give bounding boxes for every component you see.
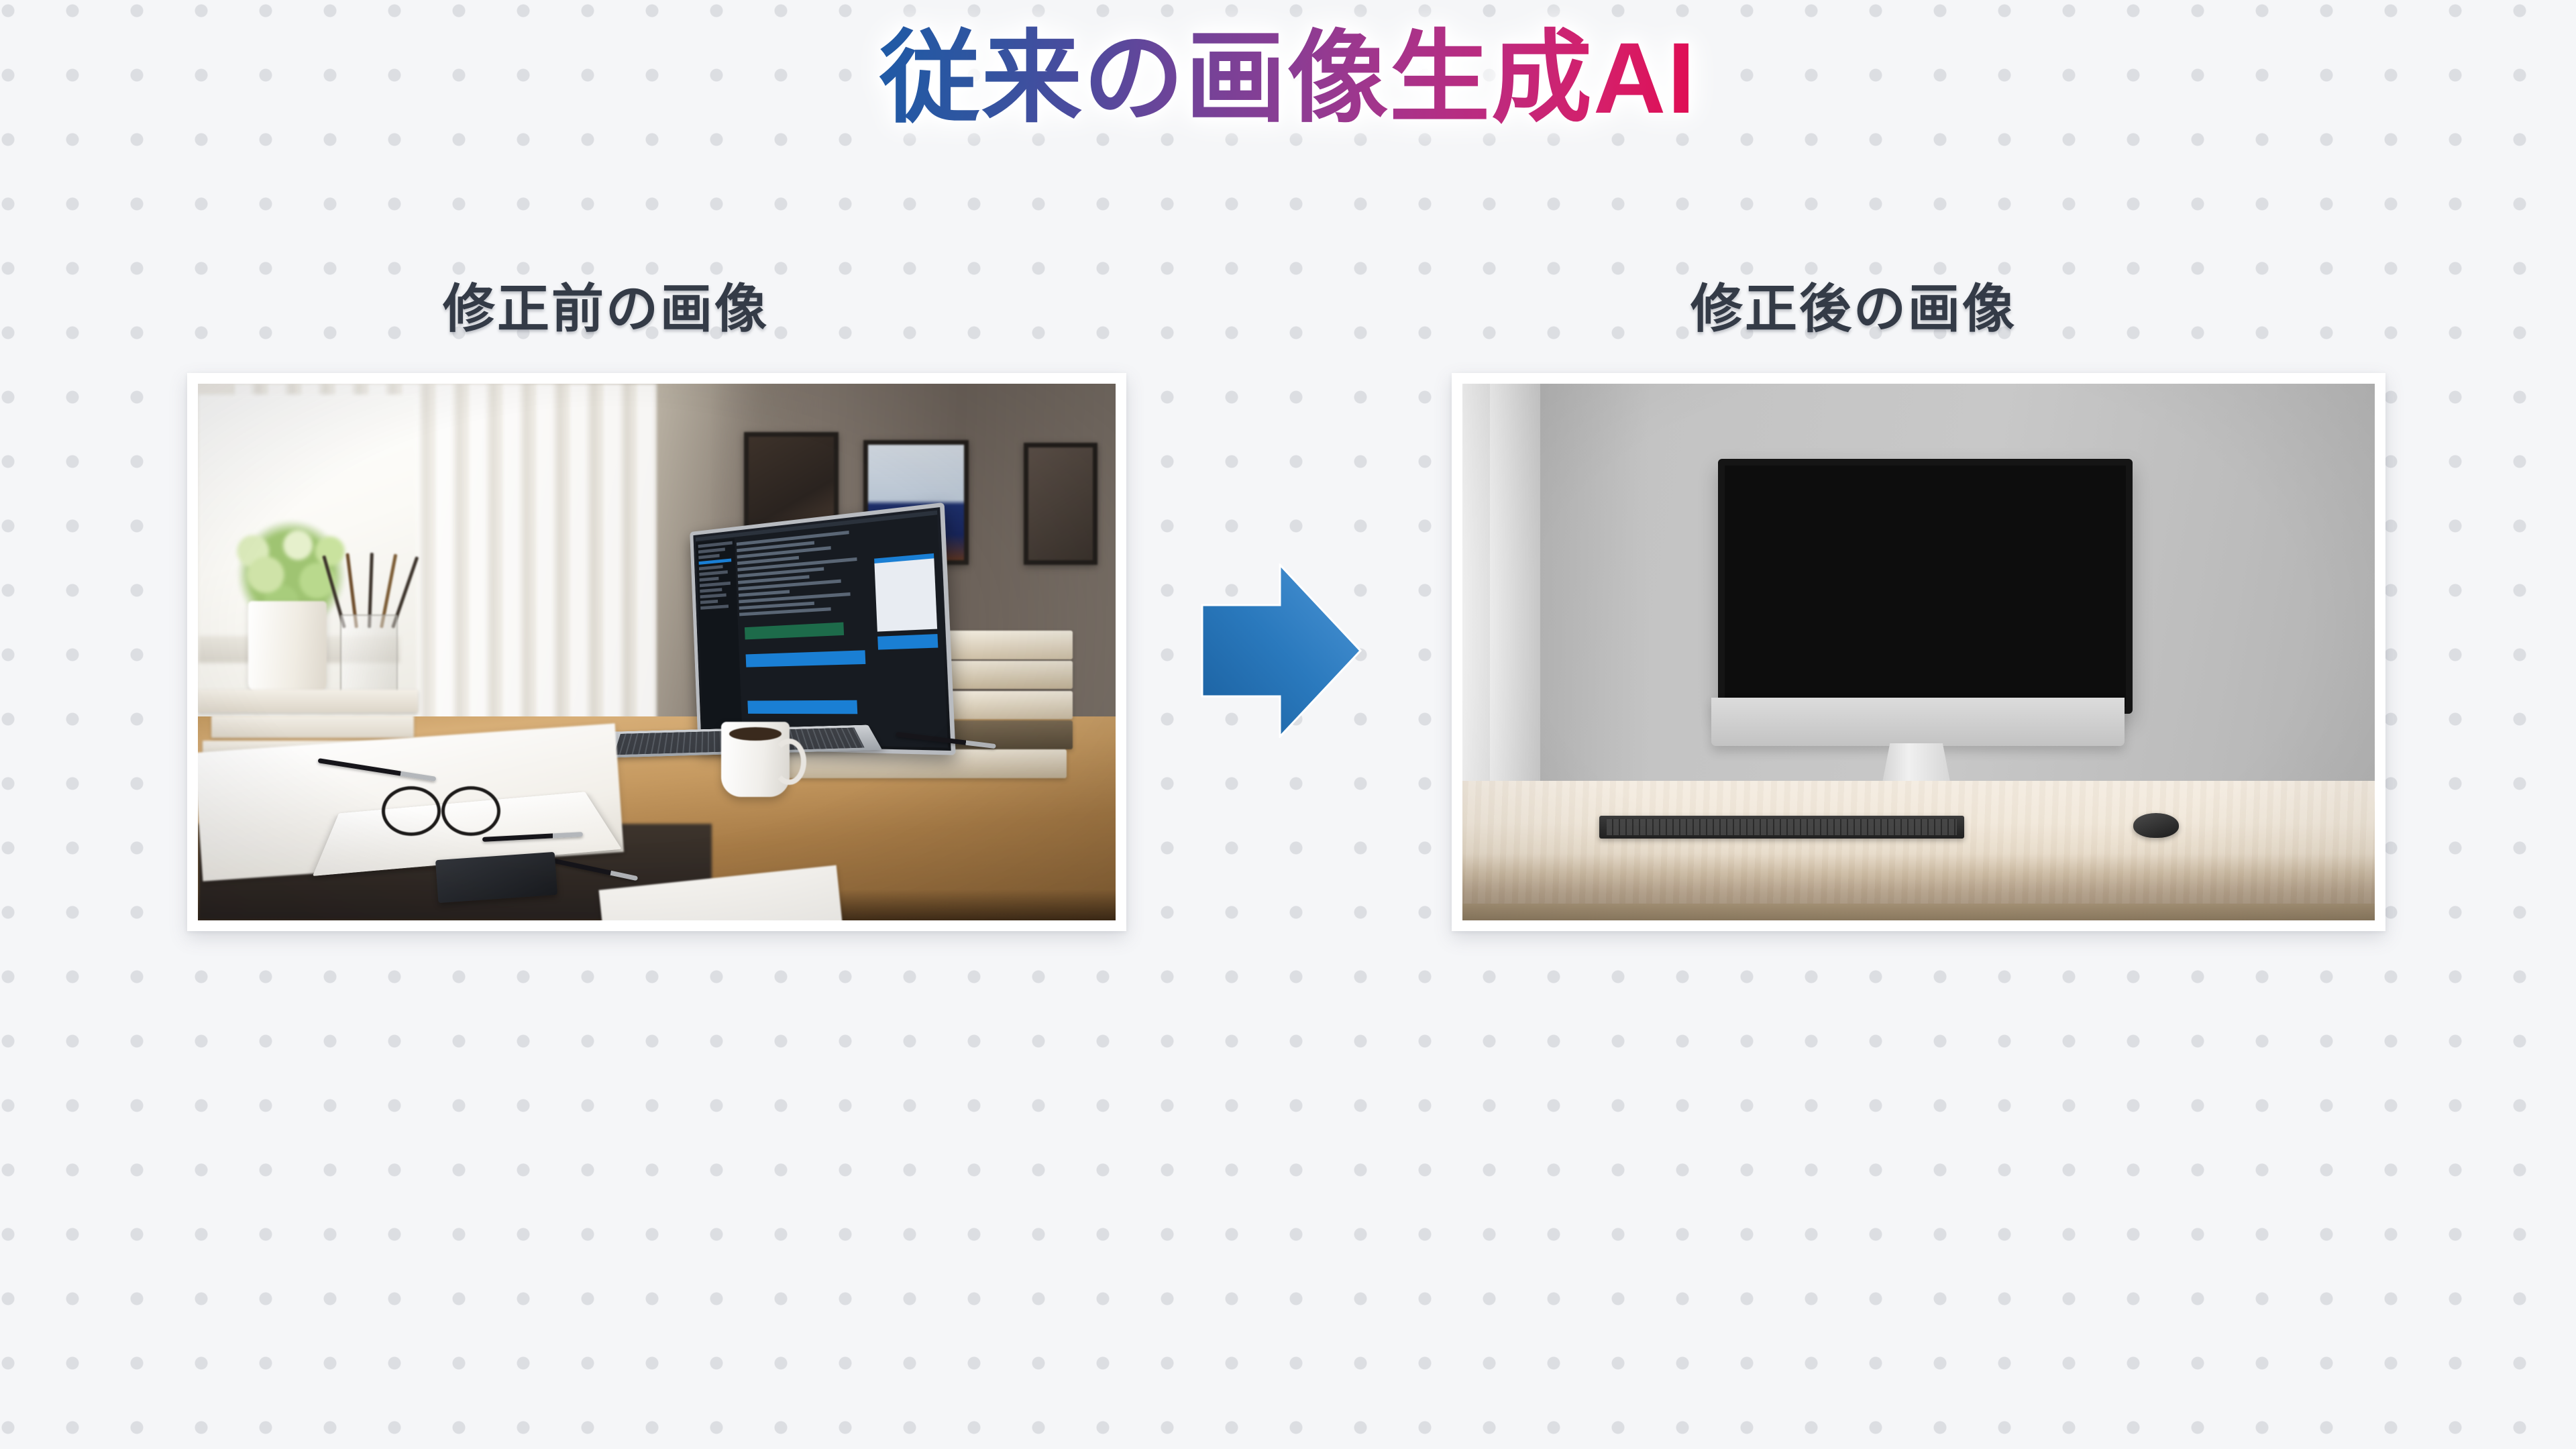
after-image-photo [1462,384,2375,920]
after-image-caption: 修正後の画像 [1690,267,2017,342]
page-title-container: 従来の画像生成AI [0,21,2576,134]
before-photo-vignette [198,384,1116,920]
transformation-arrow [1201,563,1362,738]
before-image-photo [198,384,1116,920]
after-image-frame [1452,373,2385,931]
after-photo-vignette [1462,384,2375,920]
before-image-frame [187,373,1126,931]
arrow-right-icon [1202,565,1360,737]
before-image-caption: 修正前の画像 [443,267,769,342]
page-title: 従来の画像生成AI [879,21,1697,134]
slide-background: 従来の画像生成AI 修正前の画像 修正後の画像 [0,0,2576,1449]
